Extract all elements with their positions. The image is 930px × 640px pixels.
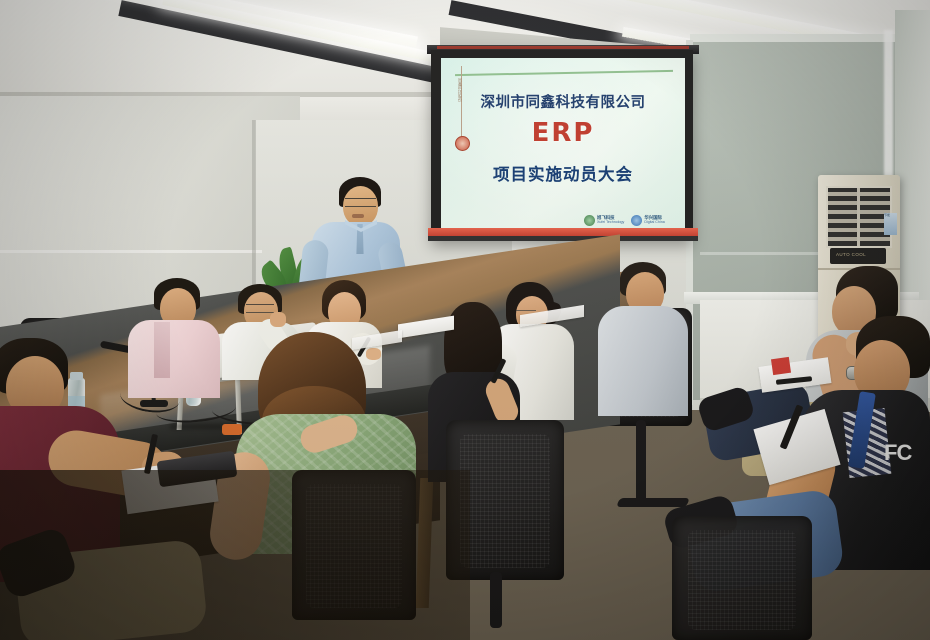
chair-foreground-far-right[interactable] (672, 516, 812, 640)
air-conditioner-vent-icon (826, 186, 892, 248)
meeting-room-photo: 同鑫科技股份 深圳市同鑫科技有限公司 ERP 项目实施动员大会 旭飞科技Xufe… (0, 0, 930, 640)
slide-logo-1-icon (584, 215, 595, 226)
slide-subject: 项目实施动员大会 (441, 161, 685, 185)
person-left-white-hand (270, 312, 286, 327)
projection-screen-rail-accent (437, 46, 689, 49)
scene-title: Conference room ERP project kickoff meet… (0, 0, 20, 1)
slide-logo-1-text: 旭飞科技Xufei Technology (597, 216, 624, 225)
slide-headline: ERP (441, 118, 685, 148)
chair-far-right-base (616, 498, 690, 507)
presenter-glasses-icon (345, 198, 376, 207)
chair-far-right-post (636, 420, 646, 506)
floor-shadow-left (0, 470, 470, 640)
wall-seam-left (0, 250, 262, 253)
slide-logos: 旭飞科技Xufei Technology 华兴国际Digital China (584, 212, 680, 228)
projection-screen-bottom-weight (428, 236, 698, 241)
wall-trim-top (690, 34, 905, 42)
presenter-mouth (352, 214, 364, 218)
slide-logo-2-icon (631, 215, 642, 226)
chair-foreground-right-post (490, 572, 502, 628)
person-left-pink-placket (154, 322, 170, 378)
water-bottle-1-cap (70, 372, 83, 380)
cable-connector (222, 424, 242, 435)
person-right-lightshirt-body (598, 306, 688, 416)
slide-logo-2-text: 华兴国际Digital China (644, 216, 664, 225)
person-white-cardigan-hand (366, 348, 381, 360)
person-left-white-glasses-icon (246, 304, 274, 313)
slide-company-name: 深圳市同鑫科技有限公司 (441, 91, 685, 112)
notepad-right-tab (771, 357, 791, 375)
person-fc-shirt-text: FC (884, 440, 914, 466)
air-conditioner-badge: 节能 (884, 213, 897, 235)
person-left-pink-body (128, 320, 220, 398)
air-conditioner-display-text: AUTO COOL (836, 252, 882, 257)
